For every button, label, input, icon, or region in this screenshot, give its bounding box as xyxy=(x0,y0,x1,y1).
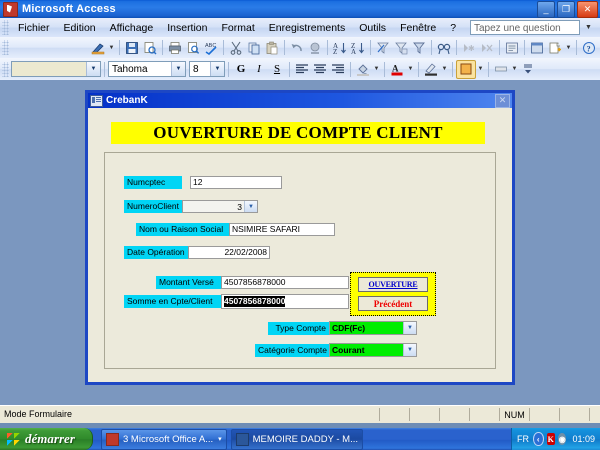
new-record-icon[interactable]: ✱ xyxy=(460,39,478,56)
network-icon[interactable]: ◉ xyxy=(558,433,566,445)
start-button[interactable]: démarrer xyxy=(0,428,93,450)
field-row-nom-raison-social: Nom ou Raison Social NSIMIRE SAFARI xyxy=(136,223,335,236)
toolbar-separator xyxy=(452,62,453,77)
input-somme-cpte-client-selected-text: 4507856878000 xyxy=(224,296,285,307)
menu-fenetre[interactable]: Fenêtre xyxy=(393,20,443,36)
delete-record-icon[interactable] xyxy=(478,39,496,56)
title-bar: Microsoft Access _ ❐ ✕ xyxy=(0,0,600,18)
undo-icon[interactable] xyxy=(288,39,306,56)
minimize-button[interactable]: _ xyxy=(537,1,555,18)
special-effect-icon[interactable] xyxy=(456,60,476,79)
toolbar-separator xyxy=(162,40,163,55)
access-icon xyxy=(106,433,119,446)
start-button-label: démarrer xyxy=(25,431,75,447)
save-icon[interactable] xyxy=(123,39,141,56)
field-row-categorie-compte: Catégorie Compte Courant ▼ xyxy=(255,343,417,357)
dropdown-type-compte[interactable]: CDF(Fc) ▼ xyxy=(329,321,417,335)
sort-ascending-icon[interactable]: AZ xyxy=(331,39,349,56)
chevron-down-icon[interactable]: ▼ xyxy=(403,322,416,334)
toolbar-separator xyxy=(119,40,120,55)
form-body: OUVERTURE DE COMPTE CLIENT Numcptec 12 N… xyxy=(88,108,512,382)
toolbar-separator xyxy=(104,62,105,77)
field-row-montant-verse: Montant Versé 4507856878000 xyxy=(156,276,349,289)
taskbar-item-access[interactable]: 3 Microsoft Office A... ▾ xyxy=(101,429,227,450)
dropdown-numeroclient[interactable]: 3 ▼ xyxy=(182,200,258,213)
fill-color-icon[interactable] xyxy=(354,61,372,78)
taskbar-item-access-dropdown-icon[interactable]: ▾ xyxy=(218,435,222,443)
screen: Microsoft Access _ ❐ ✕ Fichier Edition A… xyxy=(0,0,600,450)
line-width-icon[interactable] xyxy=(492,61,510,78)
precedent-button[interactable]: Précédent xyxy=(358,296,428,311)
form-icon xyxy=(90,95,103,107)
ouverture-button[interactable]: OUVERTURE xyxy=(358,277,428,292)
taskbar: démarrer 3 Microsoft Office A... ▾ MEMOI… xyxy=(0,428,600,450)
label-numcptec: Numcptec xyxy=(124,176,182,189)
toolbar-separator xyxy=(370,40,371,55)
formatting-toolbar-grip[interactable] xyxy=(2,62,9,77)
properties-icon[interactable] xyxy=(503,39,521,56)
menu-insertion[interactable]: Insertion xyxy=(160,20,214,36)
menu-enregistrements[interactable]: Enregistrements xyxy=(262,20,352,36)
chevron-down-icon[interactable]: ▼ xyxy=(244,201,257,212)
status-numlock: NUM xyxy=(500,408,530,421)
field-row-numcptec: Numcptec 12 xyxy=(124,176,282,189)
find-icon[interactable] xyxy=(435,39,453,56)
input-somme-cpte-client[interactable]: 4507856878000 xyxy=(221,294,349,309)
ask-dropdown-icon[interactable]: ▼ xyxy=(582,20,595,35)
toolbar-overflow-icon[interactable] xyxy=(519,61,537,78)
font-combo[interactable]: Tahoma ▼ xyxy=(108,61,186,77)
dropdown-numeroclient-value: 3 xyxy=(183,202,244,212)
svg-text:A: A xyxy=(351,48,356,55)
input-montant-verse[interactable]: 4507856878000 xyxy=(221,276,349,289)
cut-icon[interactable] xyxy=(227,39,245,56)
field-row-type-compte: Type Compte CDF(Fc) ▼ xyxy=(268,321,417,335)
menu-format[interactable]: Format xyxy=(215,20,262,36)
status-cell-6 xyxy=(560,408,590,421)
restore-icon: ❐ xyxy=(558,3,574,15)
toolbar-separator xyxy=(289,62,290,77)
fill-color-dropdown-icon[interactable]: ▼ xyxy=(372,66,381,72)
new-object-dropdown-icon[interactable]: ▼ xyxy=(564,45,573,51)
paste-icon[interactable] xyxy=(263,39,281,56)
form-close-button[interactable]: ✕ xyxy=(495,94,510,108)
close-icon: ✕ xyxy=(578,3,597,15)
field-row-somme-cpte-client: Somme en Cpte/Client 4507856878000 xyxy=(124,294,349,309)
form-title-bar[interactable]: CrebanK ✕ xyxy=(88,93,512,108)
access-icon xyxy=(3,2,18,17)
messenger-icon[interactable]: ‹ xyxy=(533,432,543,446)
status-cell-2 xyxy=(410,408,440,421)
view-design-icon[interactable] xyxy=(89,39,107,56)
help-icon[interactable]: ? xyxy=(580,39,598,56)
italic-button[interactable]: I xyxy=(250,61,268,78)
toolbar-separator xyxy=(228,62,229,77)
standard-toolbar: ▼ ABC xyxy=(0,37,600,58)
toolbar-separator xyxy=(327,40,328,55)
form-title: CrebanK xyxy=(106,95,148,106)
input-nom-raison-social[interactable]: NSIMIRE SAFARI xyxy=(229,223,335,236)
kaspersky-icon[interactable]: K xyxy=(547,433,555,445)
print-icon[interactable] xyxy=(166,39,184,56)
line-color-dropdown-icon[interactable]: ▼ xyxy=(440,66,449,72)
word-icon xyxy=(236,433,249,446)
menu-grip[interactable] xyxy=(2,20,9,35)
toolbar-separator xyxy=(431,40,432,55)
taskbar-item-word-label: MEMOIRE DADDY - M... xyxy=(253,434,358,445)
font-color-icon[interactable]: A xyxy=(388,61,406,78)
field-row-date-operation: Date Opération 22/02/2008 xyxy=(124,246,270,259)
office-links-icon[interactable] xyxy=(306,39,324,56)
font-color-dropdown-icon[interactable]: ▼ xyxy=(406,66,415,72)
status-cell-4 xyxy=(470,408,500,421)
svg-text:?: ? xyxy=(587,44,591,53)
font-size-value: 8 xyxy=(190,64,210,75)
dropdown-categorie-compte-value: Courant xyxy=(330,345,403,355)
label-numeroclient: NumeroClient xyxy=(124,200,182,213)
menu-edition[interactable]: Edition xyxy=(57,20,103,36)
line-width-dropdown-icon[interactable]: ▼ xyxy=(510,66,519,72)
close-button[interactable]: ✕ xyxy=(577,1,598,18)
label-somme-cpte-client: Somme en Cpte/Client xyxy=(124,295,221,308)
filter-by-form-icon[interactable] xyxy=(392,39,410,56)
form-window-crebank: CrebanK ✕ OUVERTURE DE COMPTE CLIENT Num… xyxy=(85,90,515,385)
font-combo-arrow[interactable]: ▼ xyxy=(171,62,185,76)
print-preview-search-icon[interactable] xyxy=(141,39,159,56)
toolbar-separator xyxy=(284,40,285,55)
window-controls: _ ❐ ✕ xyxy=(537,1,598,18)
svg-text:A: A xyxy=(392,64,399,74)
label-nom-raison-social: Nom ou Raison Social xyxy=(136,223,229,236)
label-categorie-compte: Catégorie Compte xyxy=(255,344,329,357)
toolbar-separator xyxy=(223,40,224,55)
object-combo[interactable]: ▼ xyxy=(11,61,101,77)
restore-button[interactable]: ❐ xyxy=(557,1,575,18)
menu-fichier[interactable]: Fichier xyxy=(11,20,57,36)
toolbar-separator xyxy=(350,62,351,77)
mdi-workspace: CrebanK ✕ OUVERTURE DE COMPTE CLIENT Num… xyxy=(0,80,600,405)
font-size-combo[interactable]: 8 ▼ xyxy=(189,61,225,77)
app-title: Microsoft Access xyxy=(22,3,116,15)
action-button-group: OUVERTURE Précédent xyxy=(350,272,436,316)
underline-button[interactable]: S xyxy=(268,61,286,78)
toolbar-separator xyxy=(499,40,500,55)
menu-outils[interactable]: Outils xyxy=(352,20,393,36)
menu-affichage[interactable]: Affichage xyxy=(103,20,161,36)
toolbar-separator xyxy=(384,62,385,77)
view-dropdown-icon[interactable]: ▼ xyxy=(107,45,116,51)
toolbar-separator xyxy=(456,40,457,55)
windows-flag-icon xyxy=(7,433,20,446)
status-cell-3 xyxy=(440,408,470,421)
toolbar-separator xyxy=(488,62,489,77)
standard-toolbar-grip[interactable] xyxy=(2,40,9,55)
field-row-numeroclient: NumeroClient 3 ▼ xyxy=(124,200,258,213)
status-bar: Mode Formulaire NUM xyxy=(0,405,600,423)
object-combo-arrow[interactable]: ▼ xyxy=(86,62,100,76)
print-preview-icon[interactable] xyxy=(184,39,202,56)
menu-aide[interactable]: ? xyxy=(443,20,463,36)
formatting-toolbar: ▼ Tahoma ▼ 8 ▼ G I S xyxy=(0,58,600,81)
line-color-icon[interactable] xyxy=(422,61,440,78)
ask-a-question-input[interactable]: Tapez une question xyxy=(470,20,580,35)
taskbar-item-word[interactable]: MEMOIRE DADDY - M... xyxy=(231,429,363,450)
font-size-arrow[interactable]: ▼ xyxy=(210,62,224,76)
label-type-compte: Type Compte xyxy=(268,322,329,335)
chevron-down-icon[interactable]: ▼ xyxy=(403,344,416,356)
font-combo-value: Tahoma xyxy=(109,64,171,75)
form-heading: OUVERTURE DE COMPTE CLIENT xyxy=(111,122,485,144)
spelling-icon[interactable]: ABC xyxy=(202,39,220,56)
database-window-icon[interactable] xyxy=(528,39,546,56)
dropdown-type-compte-value: CDF(Fc) xyxy=(330,323,403,333)
input-date-operation[interactable]: 22/02/2008 xyxy=(188,246,270,259)
menu-bar: Fichier Edition Affichage Insertion Form… xyxy=(0,18,600,37)
apply-filter-icon[interactable] xyxy=(410,39,428,56)
status-mode: Mode Formulaire xyxy=(0,408,380,421)
minimize-icon: _ xyxy=(538,3,554,15)
language-indicator[interactable]: FR xyxy=(517,434,529,444)
bold-button[interactable]: G xyxy=(232,61,250,78)
copy-icon[interactable] xyxy=(245,39,263,56)
filter-by-selection-icon[interactable] xyxy=(374,39,392,56)
system-tray: FR ‹ K ◉ 01:09 xyxy=(511,428,600,450)
align-center-button[interactable] xyxy=(311,61,329,78)
dropdown-categorie-compte[interactable]: Courant ▼ xyxy=(329,343,417,357)
align-left-button[interactable] xyxy=(293,61,311,78)
align-right-button[interactable] xyxy=(329,61,347,78)
svg-text:Z: Z xyxy=(333,48,337,55)
toolbar-separator xyxy=(524,40,525,55)
special-effect-dropdown-icon[interactable]: ▼ xyxy=(476,66,485,72)
toolbar-separator xyxy=(576,40,577,55)
access-main-window: Microsoft Access _ ❐ ✕ Fichier Edition A… xyxy=(0,0,600,428)
toolbar-separator xyxy=(418,62,419,77)
sort-descending-icon[interactable]: ZA xyxy=(349,39,367,56)
taskbar-item-access-label: 3 Microsoft Office A... xyxy=(123,434,213,445)
label-montant-verse: Montant Versé xyxy=(156,276,221,289)
status-cell-5 xyxy=(530,408,560,421)
svg-text:✱: ✱ xyxy=(468,44,475,53)
label-date-operation: Date Opération xyxy=(124,246,188,259)
new-object-icon[interactable] xyxy=(546,39,564,56)
status-cell-1 xyxy=(380,408,410,421)
input-numcptec[interactable]: 12 xyxy=(190,176,282,189)
clock[interactable]: 01:09 xyxy=(572,434,595,444)
